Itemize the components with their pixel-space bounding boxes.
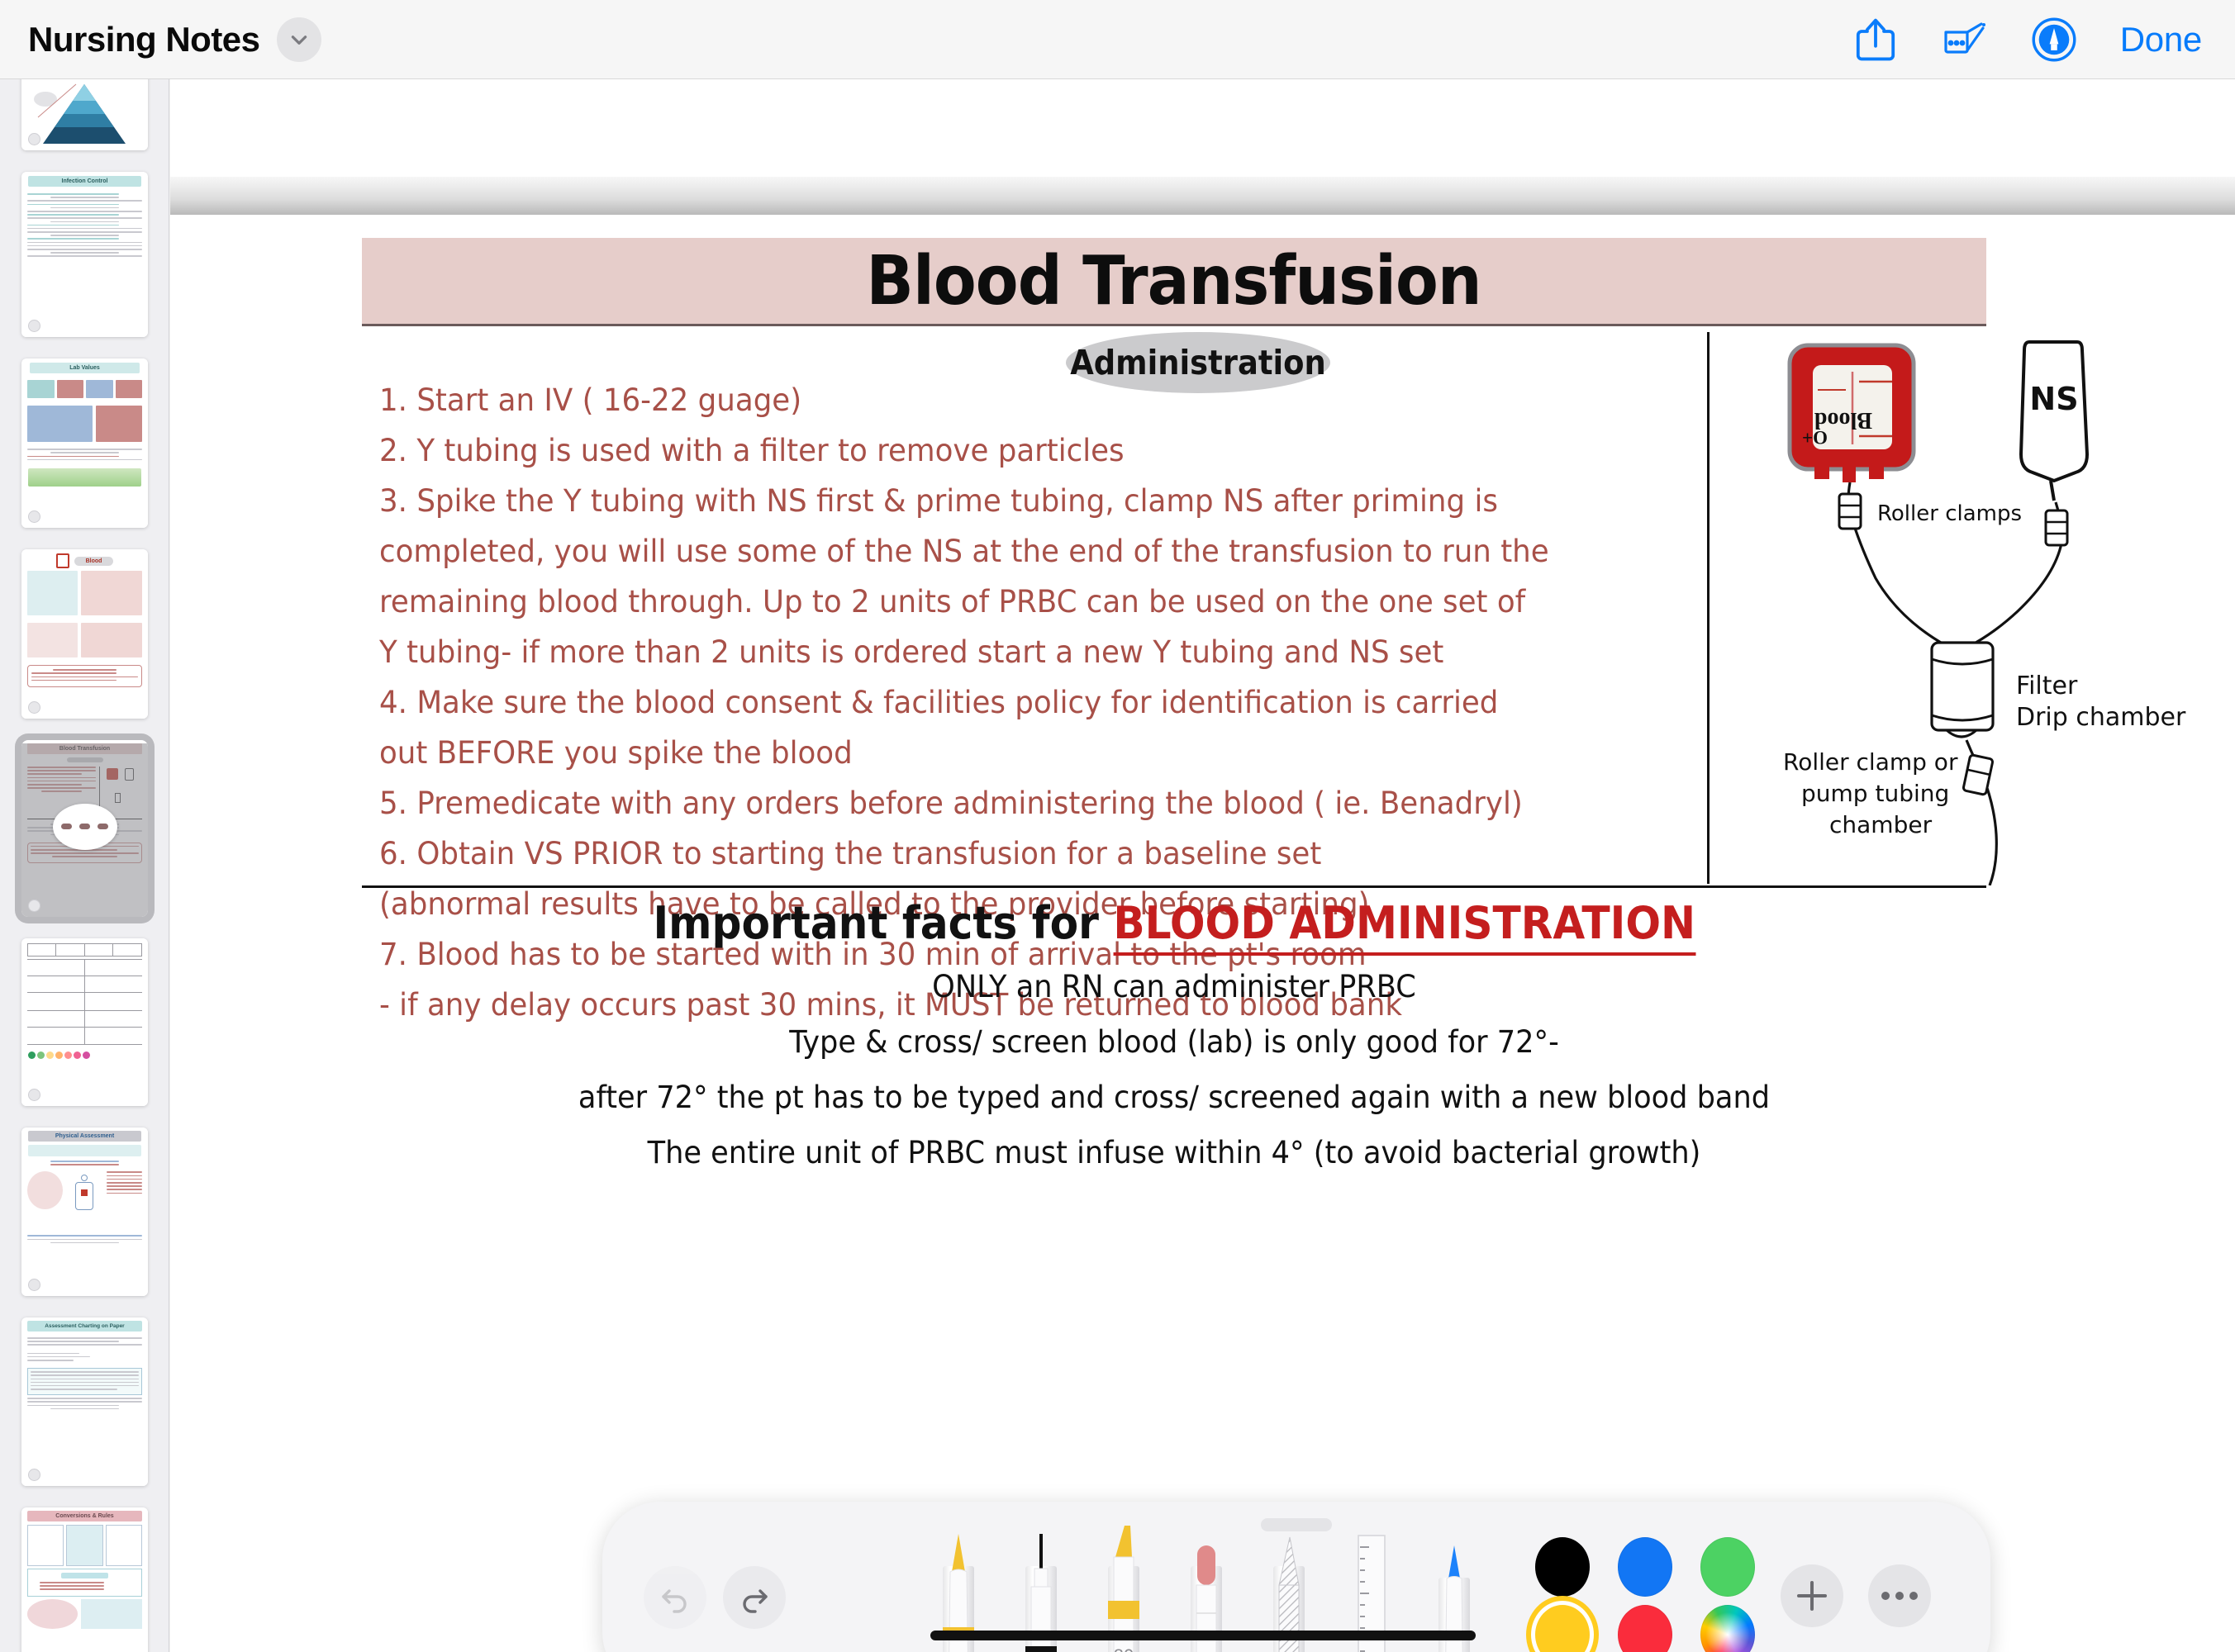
- undo-redo-group: [644, 1566, 786, 1629]
- vertical-divider: [1707, 332, 1710, 884]
- thumb-badge: [28, 701, 40, 714]
- plus-icon[interactable]: [1781, 1564, 1843, 1627]
- step-line: out BEFORE you spike the blood: [379, 728, 1619, 778]
- ns-bag-label: NS: [2029, 381, 2078, 417]
- step-line: 3. Spike the Y tubing with NS first & pr…: [379, 476, 1619, 526]
- thumb-title: Conversions & Rules: [27, 1511, 142, 1521]
- drip-chamber-icon: [1932, 643, 1993, 737]
- important-facts-section: Important facts for BLOOD ADMINISTRATION…: [362, 897, 1986, 1170]
- roller-clamp-icon: [2046, 510, 2067, 545]
- color-swatches: [1526, 1536, 1764, 1652]
- list-item[interactable]: Lab Values: [21, 358, 148, 528]
- pump-label-2: pump tubing: [1801, 780, 1949, 807]
- step-line: 6. Obtain VS PRIOR to starting the trans…: [379, 828, 1619, 879]
- fact-line: after 72° the pt has to be typed and cro…: [402, 1080, 1946, 1115]
- note-banner: Blood Transfusion: [362, 238, 1986, 326]
- chevron-down-icon[interactable]: [277, 17, 321, 62]
- step-line: completed, you will use some of the NS a…: [379, 526, 1619, 577]
- previous-page-tail: [170, 79, 2235, 177]
- list-item[interactable]: Blood: [21, 549, 148, 719]
- markup-toolbar[interactable]: 80: [602, 1502, 1990, 1652]
- step-line: 1. Start an IV ( 16-22 guage): [379, 375, 1619, 425]
- facts-heading-accent: BLOOD ADMINISTRATION: [1113, 897, 1695, 956]
- list-item[interactable]: Assessment Charting on Paper: [21, 1317, 148, 1486]
- document-canvas[interactable]: Blood Transfusion Administration 1. Star…: [170, 79, 2235, 1652]
- current-page[interactable]: Blood Transfusion Administration 1. Star…: [170, 215, 2235, 1652]
- home-indicator: [930, 1631, 1476, 1640]
- color-wheel-icon[interactable]: [1700, 1605, 1755, 1652]
- step-line: 4. Make sure the blood consent & facilit…: [379, 677, 1619, 728]
- roller-clamp-icon: [1839, 494, 1861, 529]
- annotate-circle-icon[interactable]: [2031, 16, 2077, 64]
- step-line: remaining blood through. Up to 2 units o…: [379, 577, 1619, 627]
- undo-icon[interactable]: [644, 1566, 706, 1629]
- list-item[interactable]: [21, 79, 148, 150]
- note-title: Blood Transfusion: [867, 242, 1481, 320]
- note-artwork: Blood Transfusion Administration 1. Star…: [170, 215, 2235, 1652]
- topbar-actions: Done: [1852, 16, 2202, 64]
- color-swatch-blue[interactable]: [1618, 1537, 1672, 1597]
- thumb-badge: [28, 510, 40, 523]
- share-icon[interactable]: [1852, 16, 1899, 64]
- thumb-badge: [28, 1089, 40, 1101]
- fact-line: Type & cross/ screen blood (lab) is only…: [402, 1024, 1946, 1060]
- list-item[interactable]: Physical Assessment: [21, 1127, 148, 1296]
- facts-heading: Important facts for BLOOD ADMINISTRATION: [653, 897, 1695, 949]
- list-item[interactable]: Conversions & Rules: [21, 1507, 148, 1652]
- more-dots-icon[interactable]: [1868, 1564, 1931, 1627]
- top-toolbar: Nursing Notes Done: [0, 0, 2235, 79]
- thumb-title: Physical Assessment: [28, 1131, 141, 1142]
- thumb-title: Blood: [74, 557, 114, 566]
- page-separator: [170, 177, 2235, 215]
- list-item[interactable]: Infection Control: [21, 172, 148, 337]
- color-swatch-yellow[interactable]: [1535, 1605, 1590, 1652]
- tool-label: 80: [1114, 1645, 1134, 1652]
- color-swatch-green[interactable]: [1700, 1537, 1755, 1597]
- roller-clamps-label: Roller clamps: [1877, 501, 2022, 526]
- list-item[interactable]: [21, 938, 148, 1106]
- thumb-badge: [28, 1469, 40, 1481]
- color-swatch-black[interactable]: [1535, 1537, 1590, 1597]
- thumb-title: Infection Control: [28, 176, 141, 187]
- thumb-badge: [28, 1279, 40, 1291]
- step-line: 5. Premedicate with any orders before ad…: [379, 778, 1619, 828]
- thumb-badge: [28, 320, 40, 332]
- done-button[interactable]: Done: [2120, 20, 2202, 59]
- drip-chamber-label: Drip chamber: [2016, 703, 2186, 732]
- redo-icon[interactable]: [723, 1566, 786, 1629]
- color-swatch-red[interactable]: [1618, 1605, 1672, 1652]
- thumb-title: Lab Values: [30, 363, 140, 373]
- transfusion-setup-diagram: Blood O+ NS: [1722, 330, 2234, 885]
- facts-heading-plain: Important facts for: [653, 897, 1113, 949]
- markup-pen-icon[interactable]: [1942, 16, 1988, 64]
- list-item-selected[interactable]: Blood Transfusion: [21, 740, 148, 917]
- step-line: Y tubing- if more than 2 units is ordere…: [379, 627, 1619, 677]
- pump-label-3: chamber: [1829, 811, 1933, 838]
- filter-label: Filter: [2016, 672, 2078, 700]
- more-dots-icon[interactable]: [53, 804, 117, 850]
- thumb-title: Assessment Charting on Paper: [27, 1321, 142, 1332]
- pump-label-1: Roller clamp or: [1783, 748, 1958, 776]
- document-title: Nursing Notes: [28, 20, 260, 59]
- page-thumbnail-sidebar[interactable]: Infection Control Lab Values: [0, 79, 169, 1652]
- thumb-badge: [28, 133, 40, 145]
- fact-line: The entire unit of PRBC must infuse with…: [402, 1135, 1946, 1170]
- horizontal-divider: [362, 885, 1986, 888]
- svg-text:O+: O+: [1802, 427, 1828, 448]
- toolbar-right-actions: [1781, 1564, 1931, 1627]
- thumb-badge: [28, 900, 40, 912]
- fact-line: ONLY an RN can administer PRBC: [402, 969, 1946, 1004]
- step-line: 2. Y tubing is used with a filter to rem…: [379, 425, 1619, 476]
- ns-bag-icon: [2021, 342, 2087, 501]
